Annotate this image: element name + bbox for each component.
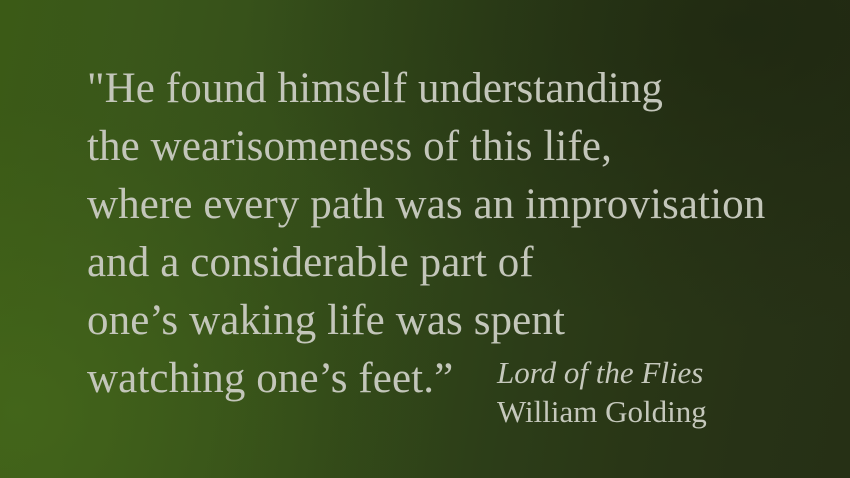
attribution-author: William Golding — [497, 392, 837, 432]
quote-line-5: one’s waking life was spent — [87, 292, 850, 350]
quote-line-2: the wearisomeness of this life, — [87, 118, 850, 176]
attribution-work-title: Lord of the Flies — [497, 354, 837, 392]
quote-card: "He found himself understanding the wear… — [0, 0, 850, 478]
quote-line-3: where every path was an improvisation — [87, 176, 850, 234]
content-layer: "He found himself understanding the wear… — [0, 0, 850, 478]
quote-line-4: and a considerable part of — [87, 234, 850, 292]
attribution: Lord of the Flies William Golding — [497, 354, 837, 432]
quote-line-1: "He found himself understanding — [87, 60, 850, 118]
